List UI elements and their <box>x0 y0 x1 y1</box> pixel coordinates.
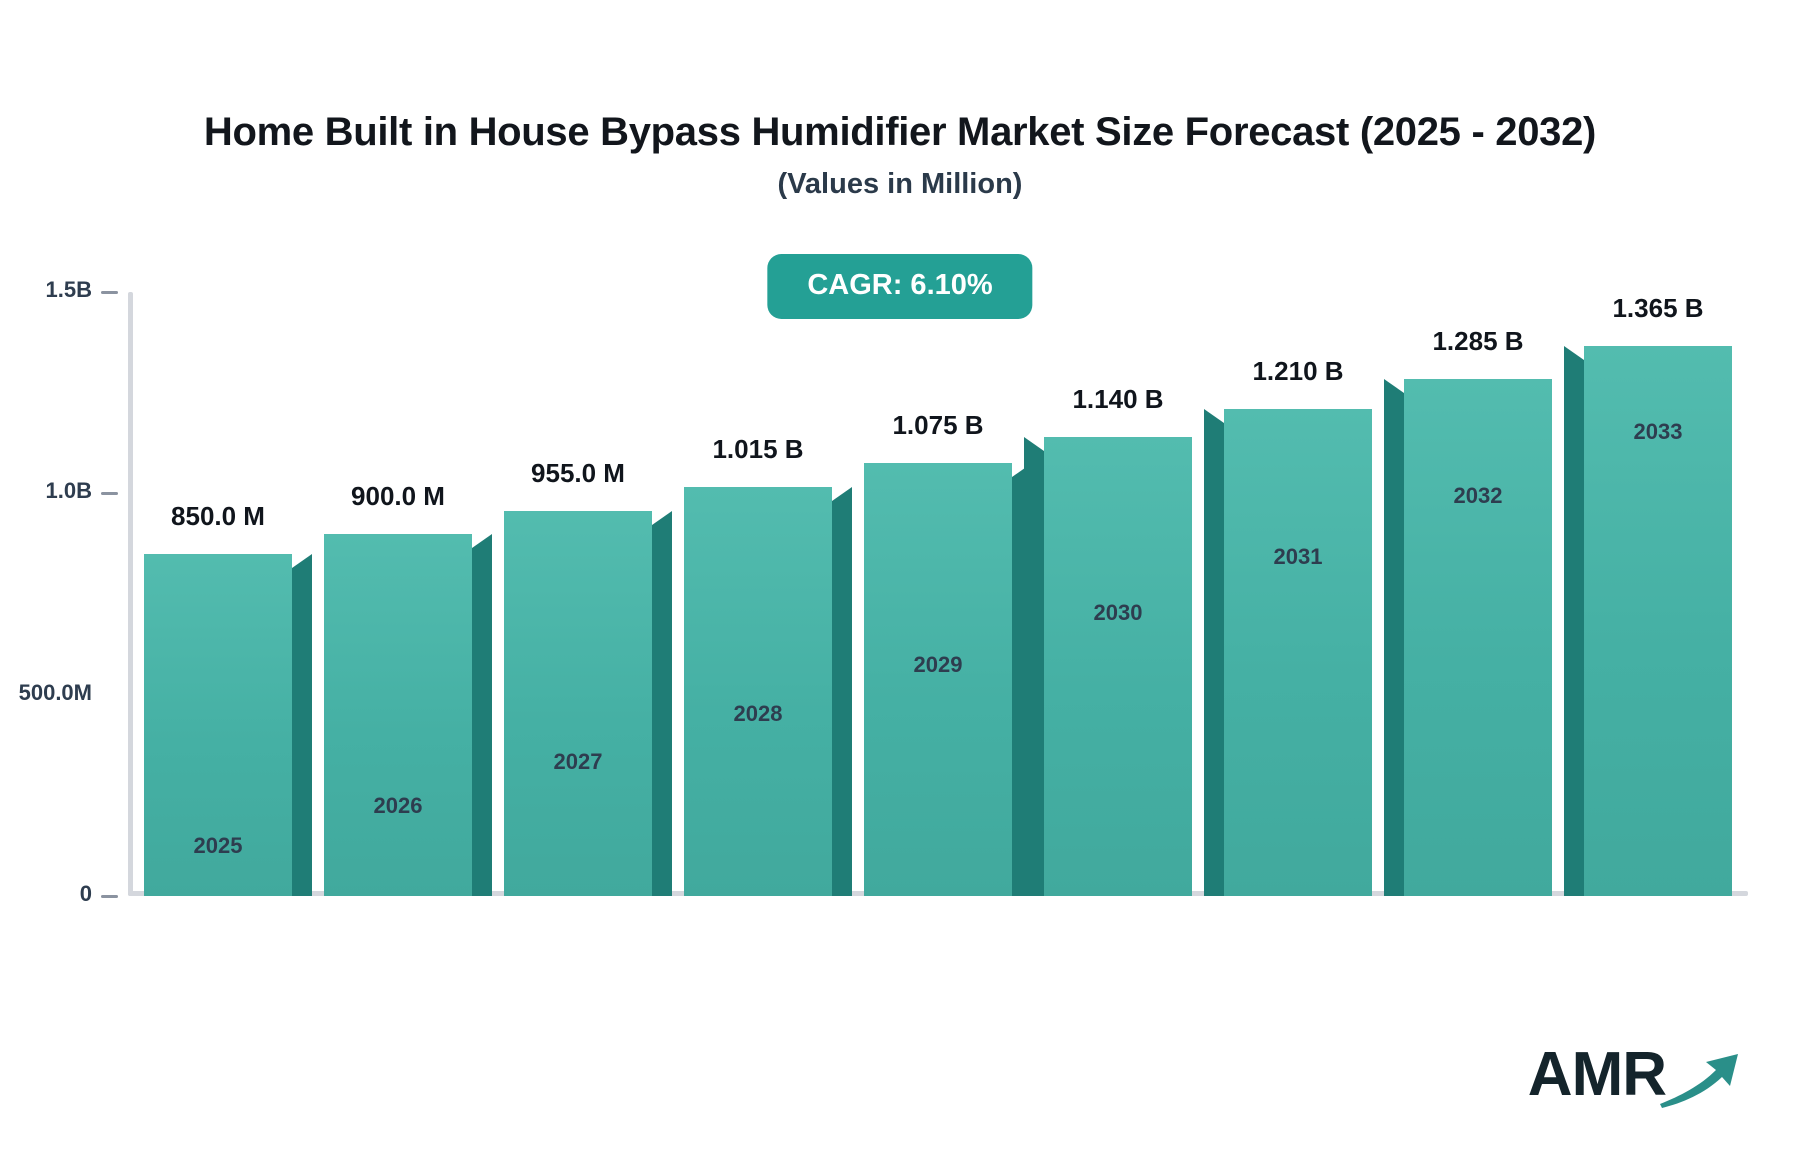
bar-value-label: 1.015 B <box>712 434 803 465</box>
bar-front-face <box>504 511 652 896</box>
bar-top-bevel <box>1564 346 1584 360</box>
x-axis-tick-label: 2030 <box>1094 600 1143 626</box>
bar-side-face <box>472 548 492 896</box>
y-axis-tick-label: 1.5B <box>0 277 92 303</box>
bar-2030[interactable]: 1.140 B2030 <box>1044 437 1192 896</box>
bar-side-face <box>832 501 852 896</box>
bar-value-label: 1.365 B <box>1612 293 1703 324</box>
bar-side-face <box>652 525 672 896</box>
bar-top-bevel <box>472 534 492 548</box>
y-axis-tick-label: 500.0M <box>0 680 92 706</box>
bar-side-face <box>1384 393 1404 896</box>
x-axis-tick-label: 2033 <box>1634 419 1683 445</box>
bar-top-bevel <box>1384 379 1404 393</box>
bar-side-face <box>1204 423 1224 896</box>
chart-canvas: Home Built in House Bypass Humidifier Ma… <box>0 0 1800 1156</box>
x-axis-tick-label: 2026 <box>374 793 423 819</box>
x-axis-tick-label: 2028 <box>734 701 783 727</box>
page-title: Home Built in House Bypass Humidifier Ma… <box>0 110 1800 155</box>
bar-2026[interactable]: 900.0 M2026 <box>324 534 472 896</box>
bar-2029[interactable]: 1.075 B2029 <box>864 463 1012 896</box>
y-axis-tick-label: 1.0B <box>0 478 92 504</box>
y-axis-tick-mark <box>101 492 118 495</box>
bar-2027[interactable]: 955.0 M2027 <box>504 511 652 896</box>
y-axis-tick-mark <box>101 895 118 898</box>
bar-value-label: 955.0 M <box>531 458 625 489</box>
x-axis-tick-label: 2029 <box>914 652 963 678</box>
bar-front-face <box>1224 409 1372 896</box>
bar-value-label: 850.0 M <box>171 501 265 532</box>
x-axis-tick-label: 2025 <box>194 833 243 859</box>
bar-2025[interactable]: 850.0 M2025 <box>144 554 292 896</box>
growth-arrow-icon <box>1656 1046 1742 1115</box>
bar-front-face <box>1404 379 1552 896</box>
bar-top-bevel <box>832 487 852 501</box>
bar-2028[interactable]: 1.015 B2028 <box>684 487 832 896</box>
bar-top-bevel <box>1204 409 1224 423</box>
bar-top-bevel <box>652 511 672 525</box>
bar-front-face <box>1044 437 1192 896</box>
bar-value-label: 1.210 B <box>1252 356 1343 387</box>
y-axis-tick-mark <box>101 291 118 294</box>
bar-value-label: 1.140 B <box>1072 384 1163 415</box>
amr-logo: AMR <box>1528 1036 1742 1114</box>
bar-side-face <box>1024 451 1044 896</box>
bar-2033[interactable]: 1.365 B2033 <box>1584 346 1732 896</box>
bar-front-face <box>864 463 1012 896</box>
y-axis-tick-label: 0 <box>0 881 92 907</box>
x-axis-tick-label: 2027 <box>554 749 603 775</box>
bar-top-bevel <box>1024 437 1044 451</box>
x-axis-tick-label: 2031 <box>1274 544 1323 570</box>
plot-area: 0500.0M1.0B1.5B 850.0 M2025900.0 M202695… <box>128 292 1748 896</box>
bar-front-face <box>684 487 832 896</box>
bar-2031[interactable]: 1.210 B2031 <box>1224 409 1372 896</box>
chart-subtitle: (Values in Million) <box>0 168 1800 201</box>
bar-front-face <box>324 534 472 896</box>
bar-side-face <box>292 568 312 896</box>
amr-wordmark: AMR <box>1528 1044 1666 1106</box>
bar-value-label: 1.075 B <box>892 410 983 441</box>
bar-value-label: 1.285 B <box>1432 326 1523 357</box>
bar-series: 850.0 M2025900.0 M2026955.0 M20271.015 B… <box>128 292 1748 896</box>
bar-side-face <box>1564 360 1584 896</box>
bar-2032[interactable]: 1.285 B2032 <box>1404 379 1552 896</box>
bar-top-bevel <box>292 554 312 568</box>
x-axis-tick-label: 2032 <box>1454 483 1503 509</box>
bar-value-label: 900.0 M <box>351 481 445 512</box>
